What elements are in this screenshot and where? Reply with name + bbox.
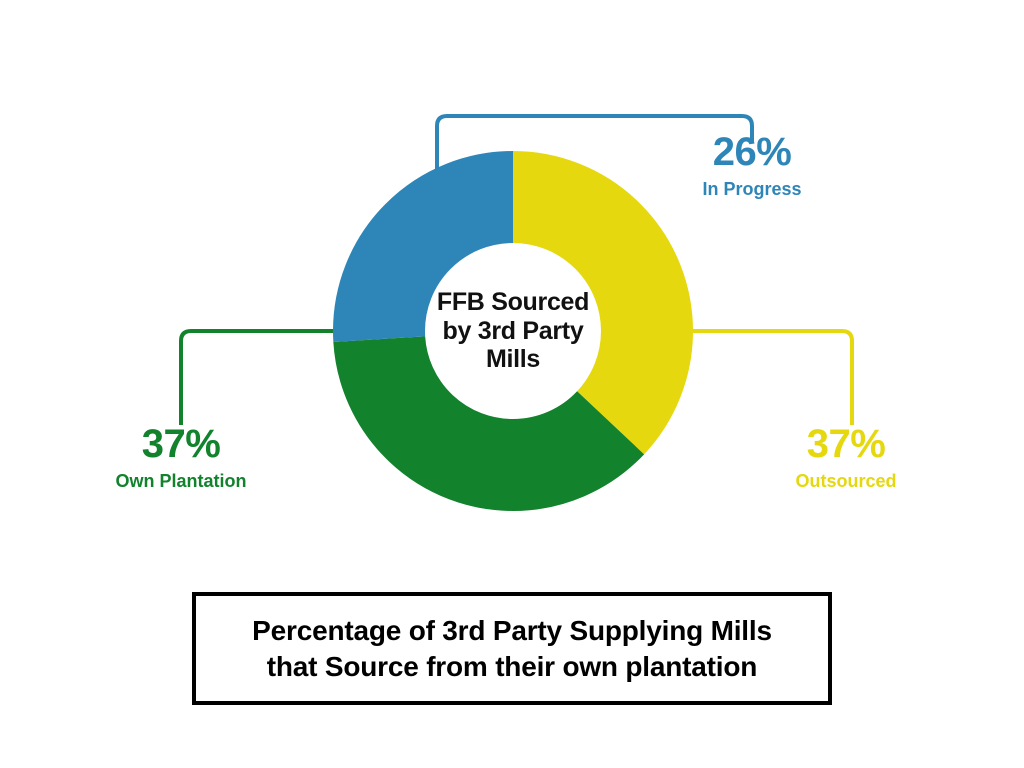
leader-line-own-plantation	[181, 331, 336, 425]
callout-outsourced-label: Outsourced	[726, 472, 966, 490]
callout-outsourced-percent: 37%	[726, 424, 966, 464]
caption-line1: Percentage of 3rd Party Supplying Mills	[252, 615, 772, 646]
donut-segments	[379, 197, 647, 465]
callout-in-progress-label: In Progress	[632, 180, 872, 198]
caption-box: Percentage of 3rd Party Supplying Mills …	[192, 592, 832, 705]
chart-canvas: FFB Sourced by 3rd Party Mills 26% In Pr…	[0, 0, 1024, 768]
leader-line-outsourced	[691, 331, 852, 425]
callout-own-plantation: 37% Own Plantation	[61, 424, 301, 490]
caption-text: Percentage of 3rd Party Supplying Mills …	[238, 613, 786, 685]
callout-in-progress: 26% In Progress	[632, 132, 872, 198]
callout-in-progress-percent: 26%	[632, 132, 872, 172]
callout-own-plantation-percent: 37%	[61, 424, 301, 464]
callout-outsourced: 37% Outsourced	[726, 424, 966, 490]
caption-line2: that Source from their own plantation	[267, 651, 757, 682]
callout-own-plantation-label: Own Plantation	[61, 472, 301, 490]
